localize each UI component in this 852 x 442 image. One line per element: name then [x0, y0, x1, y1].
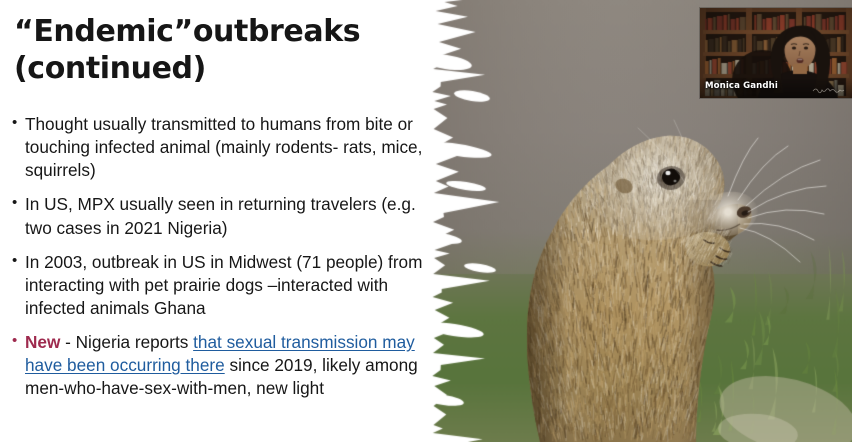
bullet-text: Thought usually transmitted to humans fr… [25, 113, 430, 182]
bullet-marker-icon: • [12, 113, 17, 133]
new-keyword: New [25, 332, 60, 352]
bullet-text: In US, MPX usually seen in returning tra… [25, 193, 430, 239]
speaker-video-tile[interactable]: Monica Gandhi [700, 8, 852, 98]
bullet-marker-icon: • [12, 193, 17, 213]
slide-text-column: “Endemic”outbreaks (continued) • Thought… [0, 0, 430, 442]
slide-title: “Endemic”outbreaks (continued) [14, 14, 414, 87]
bullet-marker-icon: • [12, 331, 17, 351]
bullet-lead-text: - Nigeria reports [60, 332, 193, 352]
bullet-item-transmission: • Thought usually transmitted to humans … [8, 113, 430, 182]
watermark-icon [812, 85, 846, 94]
bullet-item-us-travelers: • In US, MPX usually seen in returning t… [8, 193, 430, 239]
presentation-slide: “Endemic”outbreaks (continued) • Thought… [0, 0, 852, 442]
bullet-list: • Thought usually transmitted to humans … [8, 113, 430, 400]
bullet-item-midwest-2003: • In 2003, outbreak in US in Midwest (71… [8, 251, 430, 320]
bullet-text: New - Nigeria reports that sexual transm… [25, 331, 430, 400]
participant-name-label: Monica Gandhi [705, 81, 778, 91]
bullet-text: In 2003, outbreak in US in Midwest (71 p… [25, 251, 430, 320]
bullet-marker-icon: • [12, 251, 17, 271]
bullet-item-nigeria-new: • New - Nigeria reports that sexual tran… [8, 331, 430, 400]
